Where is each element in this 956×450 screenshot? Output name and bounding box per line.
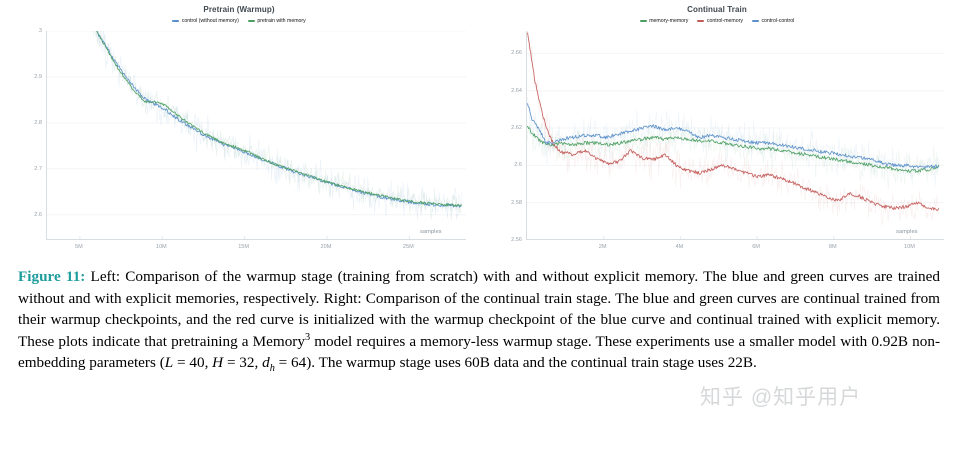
series-lines-right <box>527 33 939 211</box>
math-L-value: = 40, <box>173 354 212 371</box>
x-axis-unit-right: samples <box>896 229 918 235</box>
x-axis-tick: 2M <box>599 244 607 250</box>
math-H-value: = 32, <box>223 354 262 371</box>
plot-area-right <box>526 31 944 240</box>
math-symbol-L: L <box>165 354 173 371</box>
chart-panel-left: Pretrain (Warmup) control (without memor… <box>0 0 478 258</box>
figure-page: Pretrain (Warmup) control (without memor… <box>0 0 956 450</box>
figure-row: Pretrain (Warmup) control (without memor… <box>0 0 956 258</box>
figure-label: Figure 11: <box>18 268 85 285</box>
x-axis-tick: 10M <box>156 244 167 250</box>
figure-caption: Figure 11: Left: Comparison of the warmu… <box>18 266 940 374</box>
math-symbol-H: H <box>212 354 223 371</box>
gridlines-left <box>47 31 466 240</box>
plot-svg-left <box>47 31 466 240</box>
caption-part-3: ). The warmup stage uses 60B data and th… <box>306 354 757 371</box>
x-axis-tick: 5M <box>75 244 83 250</box>
x-axis-unit-left: samples <box>420 229 442 235</box>
x-axis-tick: 15M <box>238 244 249 250</box>
x-axis-tick: 8M <box>829 244 837 250</box>
x-axis-tick: 10M <box>904 244 915 250</box>
watermark-text: 知乎 @知乎用户 <box>700 381 861 411</box>
math-d-value: = 64 <box>275 354 306 371</box>
x-axis-tick: 20M <box>321 244 332 250</box>
x-axis-tick: 6M <box>752 244 760 250</box>
series-lines-left <box>87 31 462 207</box>
x-axis-tick: 4M <box>676 244 684 250</box>
plot-area-left <box>46 31 466 240</box>
plot-svg-right <box>527 31 944 240</box>
x-axis-tick: 25M <box>403 244 414 250</box>
series-band-left <box>87 31 462 221</box>
chart-panel-right: Continual Train memory-memory control-me… <box>478 0 956 258</box>
math-symbol-d: d <box>262 354 270 371</box>
